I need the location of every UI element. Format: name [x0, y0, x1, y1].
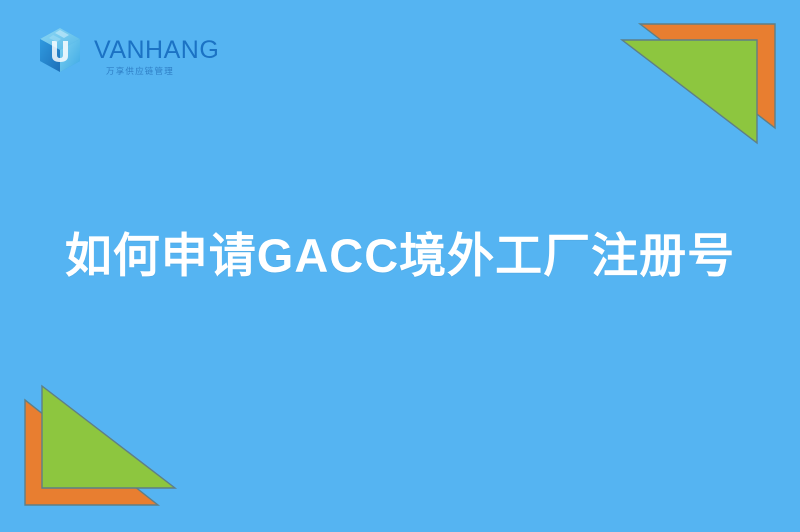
logo-subtitle: 万享供应链管理: [106, 67, 174, 76]
logo-wordmark: VANHANG: [94, 38, 219, 63]
logo-text-block: VANHANG 万享供应链管理: [94, 27, 219, 73]
decoration-bottom-left: [0, 372, 200, 532]
brand-logo: VANHANG 万享供应链管理: [36, 24, 219, 76]
green-triangle-icon: [42, 386, 175, 488]
decoration-top-right: [600, 0, 800, 160]
page-title: 如何申请GACC境外工厂注册号: [0, 228, 800, 284]
vanhang-cube-logo-icon: [36, 25, 84, 75]
slide-canvas: VANHANG 万享供应链管理 如何申请GACC境外工厂注册号: [0, 0, 800, 532]
green-triangle-icon: [622, 40, 757, 143]
